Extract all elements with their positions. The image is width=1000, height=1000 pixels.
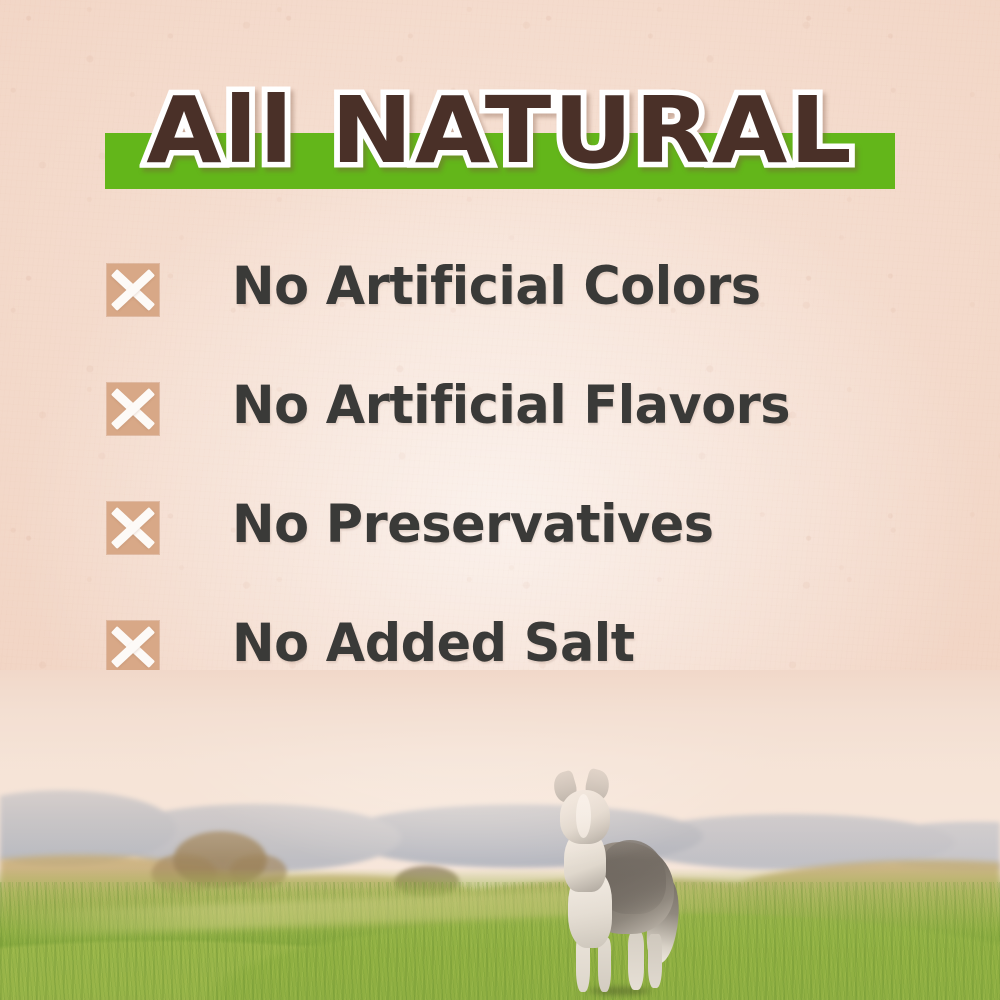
list-item: No Artificial Flavors <box>0 367 1000 486</box>
product-feature-panel: All NATURAL No Artificial Colors No Arti… <box>0 0 1000 1000</box>
lifestyle-photo <box>0 670 1000 1000</box>
dog-icon <box>536 768 696 998</box>
x-mark-icon <box>107 502 159 554</box>
x-mark-icon <box>107 383 159 435</box>
headline-block: All NATURAL <box>0 72 1000 202</box>
claim-label: No Preservatives <box>232 486 714 564</box>
page-title: All NATURAL <box>0 72 1000 190</box>
list-item: No Artificial Colors <box>0 248 1000 367</box>
dog-back-left-leg <box>628 932 644 990</box>
dog-back-right-leg <box>648 934 662 988</box>
claims-list: No Artificial Colors No Artificial Flavo… <box>0 248 1000 724</box>
x-mark-icon <box>107 264 159 316</box>
x-mark-icon <box>107 621 159 673</box>
dog-face-blaze <box>576 794 591 838</box>
list-item: No Preservatives <box>0 486 1000 605</box>
claim-label: No Artificial Colors <box>232 248 761 326</box>
claim-label: No Artificial Flavors <box>232 367 790 445</box>
